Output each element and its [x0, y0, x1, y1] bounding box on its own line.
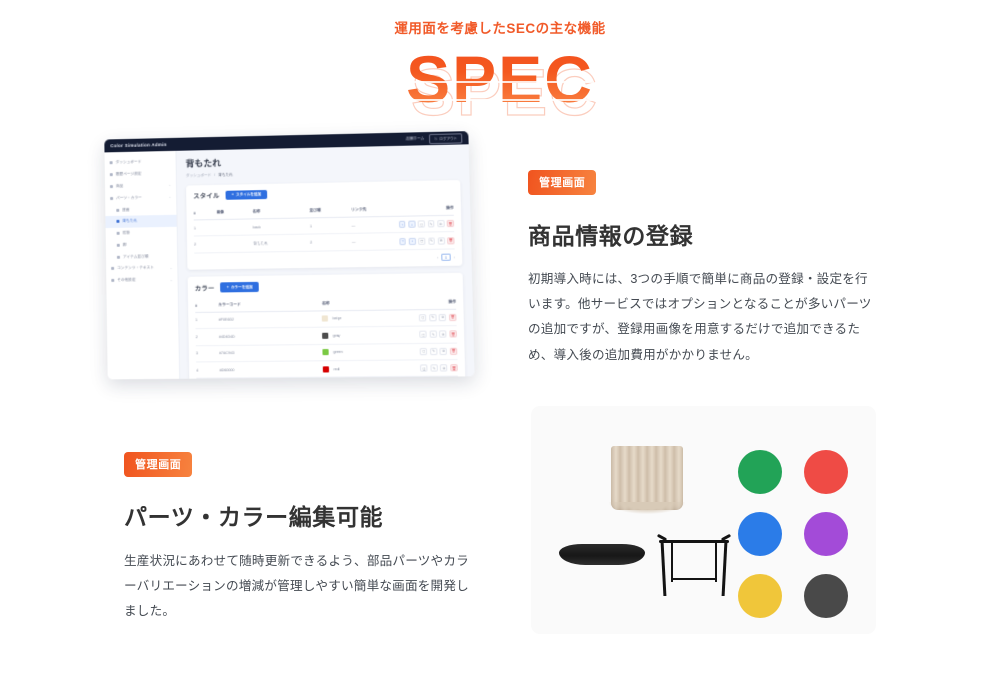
- add-color-button[interactable]: + カラーを追加: [221, 282, 259, 292]
- cell-image: [217, 244, 253, 245]
- logout-icon: ⎋: [435, 136, 438, 140]
- style-pagination[interactable]: ‹ 1 ›: [194, 253, 455, 265]
- spec-stripe-1: [406, 81, 594, 83]
- status-badge: 管理画面: [528, 170, 596, 195]
- cell-link: —: [352, 239, 399, 244]
- edit-icon[interactable]: ✎: [430, 331, 437, 338]
- preview-icon[interactable]: ◻: [420, 348, 427, 355]
- chevron-down-icon: ⌄: [168, 183, 171, 187]
- cell-name: gray: [323, 332, 402, 339]
- section-product-registration: 管理画面 商品情報の登録 初期導入時には、3つの手順で簡単に商品の登録・設定を行…: [528, 170, 876, 368]
- edit-icon[interactable]: ✎: [429, 314, 436, 321]
- row-actions: ◻✎⧉🗑: [402, 364, 458, 372]
- row-actions: ◻✎⧉🗑: [402, 347, 458, 355]
- duplicate-icon[interactable]: ⧉: [439, 331, 446, 338]
- column-header-1: カラーコード: [218, 302, 322, 308]
- sidebar-item-icon: [117, 255, 120, 258]
- chair-parts-illustration: [559, 446, 734, 606]
- chevron-down-icon: ⌄: [169, 195, 172, 199]
- color-name: red: [334, 367, 339, 371]
- chevron-down-icon: ⌄: [170, 266, 173, 270]
- spec-page: 運用面を考慮したSECの主な機能 SPEC SPEC Color Simulat…: [0, 0, 1000, 674]
- section-body: 生産状況にあわせて随時更新できるよう、部品パーツやカラーバリエーションの増減が管…: [124, 549, 469, 625]
- sidebar-item-label: 脚: [123, 242, 169, 248]
- cell-color-code: #7AC943: [219, 350, 323, 355]
- cell-color-code: #F0E6D2: [219, 317, 323, 322]
- column-header-3: 並び順: [310, 208, 352, 214]
- sidebar-item-label: 商品: [116, 183, 166, 189]
- plus-icon: +: [227, 286, 229, 290]
- breadcrumb-item-0[interactable]: ダッシュボード: [186, 173, 211, 179]
- cell-id: 2: [196, 335, 219, 339]
- color-swatch-purple[interactable]: [804, 512, 848, 556]
- sidebar-item-label: パーツ・カラー: [116, 195, 166, 201]
- section-title: 商品情報の登録: [528, 217, 876, 251]
- cell-actions: ◻✎⧉🗑: [402, 364, 458, 372]
- sidebar-item-label: 肘掛: [123, 230, 169, 236]
- duplicate-icon[interactable]: ⧉: [437, 220, 444, 227]
- add-style-label: スタイルを追加: [236, 192, 262, 198]
- style-table-card: スタイル + スタイルを追加 #画像名称並び順リンク先操作1back1—↑↓◻✎…: [186, 180, 462, 271]
- column-header-2: 名称: [322, 301, 401, 307]
- color-name: beige: [332, 317, 341, 321]
- table-row: 4#D60000red◻✎⧉🗑: [196, 360, 458, 379]
- delete-icon[interactable]: 🗑: [450, 364, 457, 371]
- table-row: 2背もたれ2—↑↓◻✎⧉🗑: [194, 232, 455, 253]
- cell-actions: ↑↓◻✎⧉🗑: [399, 220, 454, 228]
- color-table: #カラーコード名称操作1#F0E6D2beige◻✎⧉🗑2#4D4D4Dgray…: [195, 296, 458, 379]
- page-number[interactable]: 1: [441, 253, 450, 261]
- sidebar-item-icon: [110, 197, 113, 200]
- cell-color-code: #D60000: [219, 367, 323, 372]
- style-card-header: スタイル + スタイルを追加: [193, 186, 453, 201]
- cell-actions: ↑↓◻✎⧉🗑: [399, 237, 455, 245]
- section-parts-color-edit: 管理画面 パーツ・カラー編集可能 生産状況にあわせて随時更新できるよう、部品パー…: [124, 452, 469, 625]
- column-header-2: 名称: [253, 209, 310, 215]
- add-style-button[interactable]: + スタイルを追加: [225, 189, 267, 200]
- color-swatch-green[interactable]: [738, 450, 782, 494]
- edit-icon[interactable]: ✎: [427, 220, 434, 227]
- plus-icon: +: [232, 193, 234, 197]
- color-swatch-yellow[interactable]: [738, 574, 782, 618]
- color-name: gray: [333, 333, 340, 337]
- cell-actions: ◻✎⧉🗑: [401, 331, 457, 339]
- spec-logo: SPEC SPEC: [0, 41, 1000, 113]
- chair-frame-part: [657, 534, 731, 596]
- cell-actions: ◻✎⧉🗑: [401, 314, 457, 322]
- sidebar-item-10[interactable]: その他設定⌄: [106, 274, 177, 287]
- cell-id: 4: [196, 368, 219, 372]
- admin-sidebar: ダッシュボード履歴ページ設定商品⌄パーツ・カラー⌄座面背もたれ肘掛脚アイテム並び…: [104, 151, 180, 380]
- color-name: green: [333, 350, 343, 354]
- frame-top-bar: [659, 540, 729, 543]
- color-swatch-icon: [323, 349, 329, 355]
- cell-name: 背もたれ: [253, 240, 310, 246]
- section-body: 初期導入時には、3つの手順で簡単に商品の登録・設定を行います。他サービスではオプ…: [528, 267, 876, 368]
- color-swatch-icon: [323, 366, 329, 372]
- chair-seat-part: [559, 544, 645, 565]
- status-badge: 管理画面: [124, 452, 192, 477]
- frame-right-front-leg: [722, 542, 727, 596]
- cell-id: 3: [196, 351, 219, 355]
- cell-name: green: [323, 348, 402, 355]
- sidebar-item-label: 座面: [122, 206, 168, 212]
- row-actions: ↑↓◻✎⧉🗑: [399, 220, 454, 228]
- delete-icon[interactable]: 🗑: [447, 220, 454, 227]
- admin-screenshot: Color Simulation Admin 店舗ホーム ⎋ ログアウト ダッシ…: [104, 131, 474, 379]
- breadcrumb-item-1: 背もたれ: [218, 172, 233, 177]
- style-card-title: スタイル: [193, 191, 219, 201]
- sidebar-item-icon: [111, 279, 114, 282]
- sidebar-item-icon: [116, 220, 119, 223]
- color-swatch-icon: [323, 333, 329, 339]
- add-color-label: カラーを追加: [231, 285, 253, 290]
- delete-icon[interactable]: 🗑: [447, 237, 454, 244]
- cell-color-code: #4D4D4D: [219, 334, 323, 339]
- cell-id: 1: [194, 226, 217, 230]
- cell-id: 2: [194, 242, 217, 246]
- shop-home-link[interactable]: 店舗ホーム: [406, 136, 425, 141]
- edit-icon[interactable]: ✎: [428, 237, 435, 244]
- move-up-icon[interactable]: ↑: [399, 238, 406, 245]
- column-header-4: リンク先: [351, 207, 398, 213]
- column-header-0: #: [195, 303, 218, 307]
- product-preview-card: [531, 406, 876, 634]
- frame-left-back-leg: [671, 542, 673, 582]
- sidebar-item-icon: [111, 267, 114, 270]
- color-table-card: カラー + カラーを追加 #カラーコード名称操作1#F0E6D2beige◻✎⧉…: [188, 273, 466, 379]
- color-card-title: カラー: [195, 283, 215, 292]
- section-title: パーツ・カラー編集可能: [124, 498, 469, 532]
- cell-id: 1: [195, 318, 218, 322]
- frame-right-back-leg: [715, 542, 717, 582]
- sidebar-item-icon: [116, 208, 119, 211]
- page-title: SPEC: [0, 41, 1000, 117]
- color-swatch-grid: [738, 450, 848, 618]
- next-page-icon[interactable]: ›: [454, 255, 455, 259]
- row-actions: ↑↓◻✎⧉🗑: [399, 237, 455, 245]
- preview-icon[interactable]: ◻: [419, 314, 426, 321]
- admin-topbar-actions: 店舗ホーム ⎋ ログアウト: [406, 133, 463, 144]
- delete-icon[interactable]: 🗑: [449, 331, 456, 338]
- column-header-1: 画像: [217, 210, 253, 216]
- column-header-3: 操作: [400, 300, 456, 306]
- sidebar-item-label: ダッシュボード: [116, 159, 168, 165]
- sidebar-item-icon: [110, 162, 113, 165]
- prev-page-icon[interactable]: ‹: [437, 255, 438, 259]
- delete-icon[interactable]: 🗑: [450, 347, 457, 354]
- edit-icon[interactable]: ✎: [430, 348, 437, 355]
- breadcrumb: ダッシュボード / 背もたれ: [186, 167, 460, 178]
- sidebar-item-label: 背もたれ: [122, 218, 168, 224]
- sidebar-item-label: その他設定: [117, 277, 167, 283]
- cell-order: 1: [310, 223, 352, 228]
- column-header-0: #: [194, 211, 217, 215]
- row-actions: ◻✎⧉🗑: [401, 314, 457, 322]
- color-swatch-icon: [322, 316, 328, 322]
- duplicate-icon[interactable]: ⧉: [438, 237, 445, 244]
- frame-strut: [671, 578, 717, 580]
- cell-actions: ◻✎⧉🗑: [402, 347, 458, 355]
- sidebar-item-icon: [117, 244, 120, 247]
- sidebar-item-icon: [110, 173, 113, 176]
- color-swatch-gray[interactable]: [804, 574, 848, 618]
- color-card-header: カラー + カラーを追加: [195, 279, 456, 293]
- sidebar-item-icon: [110, 185, 113, 188]
- duplicate-icon[interactable]: ⧉: [439, 314, 446, 321]
- sidebar-item-9[interactable]: コンテンツ・テキスト⌄: [106, 262, 177, 275]
- chevron-down-icon: ⌄: [170, 278, 173, 282]
- admin-brand: Color Simulation Admin: [110, 142, 167, 148]
- preview-icon[interactable]: ◻: [421, 365, 428, 372]
- admin-main: 背もたれ ダッシュボード / 背もたれ スタイル + スタイルを追加: [176, 144, 474, 378]
- sidebar-item-label: 履歴ページ設定: [116, 171, 168, 177]
- preview-icon[interactable]: ◻: [420, 331, 427, 338]
- sidebar-item-label: アイテム並び順: [123, 254, 169, 260]
- admin-body: ダッシュボード履歴ページ設定商品⌄パーツ・カラー⌄座面背もたれ肘掛脚アイテム並び…: [104, 144, 474, 379]
- spec-stripe-2: [406, 99, 594, 101]
- cell-name: red: [323, 365, 402, 372]
- move-down-icon[interactable]: ↓: [409, 237, 416, 244]
- logout-label: ログアウト: [439, 135, 457, 140]
- chair-backrest-part: [611, 446, 683, 510]
- page-eyebrow: 運用面を考慮したSECの主な機能: [0, 21, 1000, 37]
- style-table: #画像名称並び順リンク先操作1back1—↑↓◻✎⧉🗑2背もたれ2—↑↓◻✎⧉🗑: [193, 202, 454, 253]
- frame-left-front-leg: [661, 542, 666, 596]
- move-up-icon[interactable]: ↑: [399, 221, 406, 228]
- duplicate-icon[interactable]: ⧉: [440, 348, 447, 355]
- cell-image: [217, 227, 253, 228]
- page-header: 運用面を考慮したSECの主な機能 SPEC SPEC: [0, 0, 1000, 113]
- column-header-5: 操作: [398, 206, 453, 212]
- edit-icon[interactable]: ✎: [430, 364, 437, 371]
- color-swatch-red[interactable]: [804, 450, 848, 494]
- cell-order: 2: [310, 240, 352, 245]
- delete-icon[interactable]: 🗑: [449, 314, 456, 321]
- logout-button[interactable]: ⎋ ログアウト: [429, 133, 462, 144]
- cell-name: back: [253, 224, 310, 229]
- row-actions: ◻✎⧉🗑: [401, 331, 457, 339]
- sidebar-item-label: コンテンツ・テキスト: [117, 265, 167, 271]
- cell-name: beige: [322, 315, 401, 322]
- breadcrumb-separator: /: [214, 172, 215, 177]
- cell-link: —: [351, 223, 398, 228]
- move-down-icon[interactable]: ↓: [408, 221, 415, 228]
- preview-icon[interactable]: ◻: [418, 221, 425, 228]
- preview-icon[interactable]: ◻: [418, 237, 425, 244]
- sidebar-item-icon: [117, 232, 120, 235]
- admin-page-title: 背もたれ: [186, 152, 460, 170]
- color-swatch-blue[interactable]: [738, 512, 782, 556]
- duplicate-icon[interactable]: ⧉: [440, 364, 447, 371]
